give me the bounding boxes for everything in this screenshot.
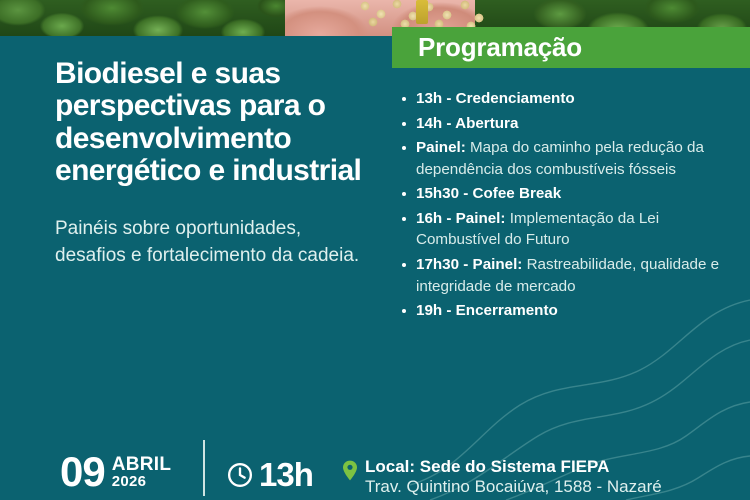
location-pin-icon: [342, 460, 358, 481]
schedule-item-label: 17h30 - Painel:: [416, 256, 522, 273]
schedule-item: 19h - Encerramento: [398, 300, 740, 322]
left-content-column: Biodiesel e suas perspectivas para o des…: [55, 58, 365, 270]
event-time: 13h: [226, 458, 313, 491]
location-address: Trav. Quintino Bocaiúva, 1588 - Nazaré: [365, 477, 662, 498]
schedule-item: 15h30 - Cofee Break: [398, 183, 740, 205]
schedule-items: 13h - Credenciamento14h - AberturaPainel…: [398, 88, 740, 322]
event-month: ABRIL: [112, 455, 172, 474]
footer-bar: 09 ABRIL 2026 13h Local: Sede do Sistema…: [0, 428, 750, 500]
schedule-item: 14h - Abertura: [398, 113, 740, 135]
schedule-item-label: 13h - Credenciamento: [416, 90, 575, 107]
schedule-item: 13h - Credenciamento: [398, 88, 740, 110]
soy-pod-image: [416, 0, 428, 24]
event-year: 2026: [112, 474, 172, 491]
page-title: Biodiesel e suas perspectivas para o des…: [55, 58, 365, 188]
programacao-list: 13h - Credenciamento14h - AberturaPainel…: [398, 88, 740, 325]
schedule-item: 17h30 - Painel: Rastreabilidade, qualida…: [398, 254, 740, 297]
programacao-banner: Programação: [392, 27, 750, 68]
schedule-item-label: 15h30 - Cofee Break: [416, 185, 561, 202]
event-location: Local: Sede do Sistema FIEPA Trav. Quint…: [342, 457, 662, 498]
schedule-item: Painel: Mapa do caminho pela redução da …: [398, 137, 740, 180]
clock-icon: [226, 461, 254, 489]
event-date: 09 ABRIL 2026: [60, 452, 171, 492]
location-venue: Local: Sede do Sistema FIEPA: [365, 457, 662, 478]
event-day: 09: [60, 452, 105, 492]
schedule-item-label: 19h - Encerramento: [416, 302, 558, 319]
footer-divider: [203, 440, 205, 496]
schedule-item-label: Painel:: [416, 139, 466, 156]
schedule-item-label: 14h - Abertura: [416, 115, 518, 132]
location-text-group: Local: Sede do Sistema FIEPA Trav. Quint…: [365, 457, 662, 498]
programacao-title: Programação: [418, 32, 582, 63]
schedule-item-label: 16h - Painel:: [416, 210, 505, 227]
schedule-item: 16h - Painel: Implementação da Lei Combu…: [398, 208, 740, 251]
month-year-group: ABRIL 2026: [112, 455, 172, 493]
subtitle-text: Painéis sobre oportunidades, desafios e …: [55, 215, 365, 270]
event-time-label: 13h: [259, 458, 313, 491]
